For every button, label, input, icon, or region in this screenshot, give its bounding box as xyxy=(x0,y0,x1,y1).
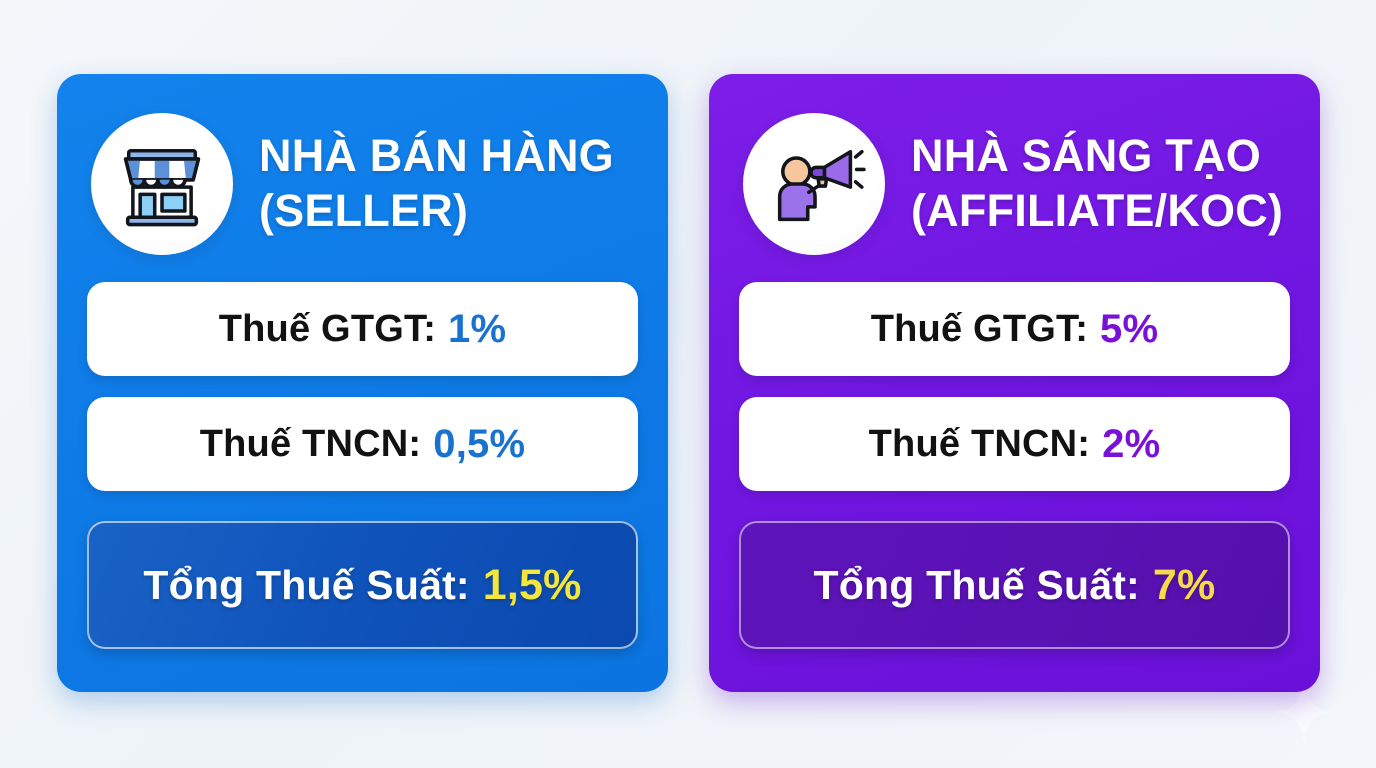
storefront-icon xyxy=(91,113,233,255)
card-title-line2: (SELLER) xyxy=(259,184,614,239)
tax-row-value: 1% xyxy=(448,307,506,352)
card-title-line2: (AFFILIATE/KOC) xyxy=(911,184,1283,239)
total-tax-label: Tổng Thuế Suất: xyxy=(814,562,1140,609)
total-tax-label: Tổng Thuế Suất: xyxy=(143,562,469,609)
card-creator: NHÀ SÁNG TẠO (AFFILIATE/KOC) Thuế GTGT: … xyxy=(709,74,1320,692)
card-title-line1: NHÀ SÁNG TẠO xyxy=(911,130,1261,181)
tax-row-label: Thuế GTGT: xyxy=(871,308,1088,351)
tax-row-label: Thuế GTGT: xyxy=(219,308,436,351)
tax-rows-creator: Thuế GTGT: 5% Thuế TNCN: 2% xyxy=(739,282,1290,491)
megaphone-person-icon xyxy=(743,113,885,255)
card-seller: NHÀ BÁN HÀNG (SELLER) Thuế GTGT: 1% Thuế… xyxy=(57,74,668,692)
tax-row-label: Thuế TNCN: xyxy=(869,423,1091,466)
cards-container: NHÀ BÁN HÀNG (SELLER) Thuế GTGT: 1% Thuế… xyxy=(57,74,1320,692)
total-tax-value: 7% xyxy=(1153,561,1216,610)
card-title-line1: NHÀ BÁN HÀNG xyxy=(259,130,614,181)
total-tax-bar-creator: Tổng Thuế Suất: 7% xyxy=(739,521,1290,649)
total-tax-value: 1,5% xyxy=(483,561,582,610)
total-tax-bar-seller: Tổng Thuế Suất: 1,5% xyxy=(87,521,638,649)
tax-row-label: Thuế TNCN: xyxy=(200,423,422,466)
card-title-creator: NHÀ SÁNG TẠO (AFFILIATE/KOC) xyxy=(911,129,1283,239)
tax-row-pit-creator: Thuế TNCN: 2% xyxy=(739,397,1290,491)
tax-rows-seller: Thuế GTGT: 1% Thuế TNCN: 0,5% xyxy=(87,282,638,491)
card-title-seller: NHÀ BÁN HÀNG (SELLER) xyxy=(259,129,614,239)
tax-row-value: 5% xyxy=(1100,307,1158,352)
card-header-creator: NHÀ SÁNG TẠO (AFFILIATE/KOC) xyxy=(739,98,1290,270)
tax-row-vat-creator: Thuế GTGT: 5% xyxy=(739,282,1290,376)
card-header-seller: NHÀ BÁN HÀNG (SELLER) xyxy=(87,98,638,270)
tax-row-value: 0,5% xyxy=(433,422,525,467)
tax-row-vat-seller: Thuế GTGT: 1% xyxy=(87,282,638,376)
tax-row-pit-seller: Thuế TNCN: 0,5% xyxy=(87,397,638,491)
tax-row-value: 2% xyxy=(1102,422,1160,467)
